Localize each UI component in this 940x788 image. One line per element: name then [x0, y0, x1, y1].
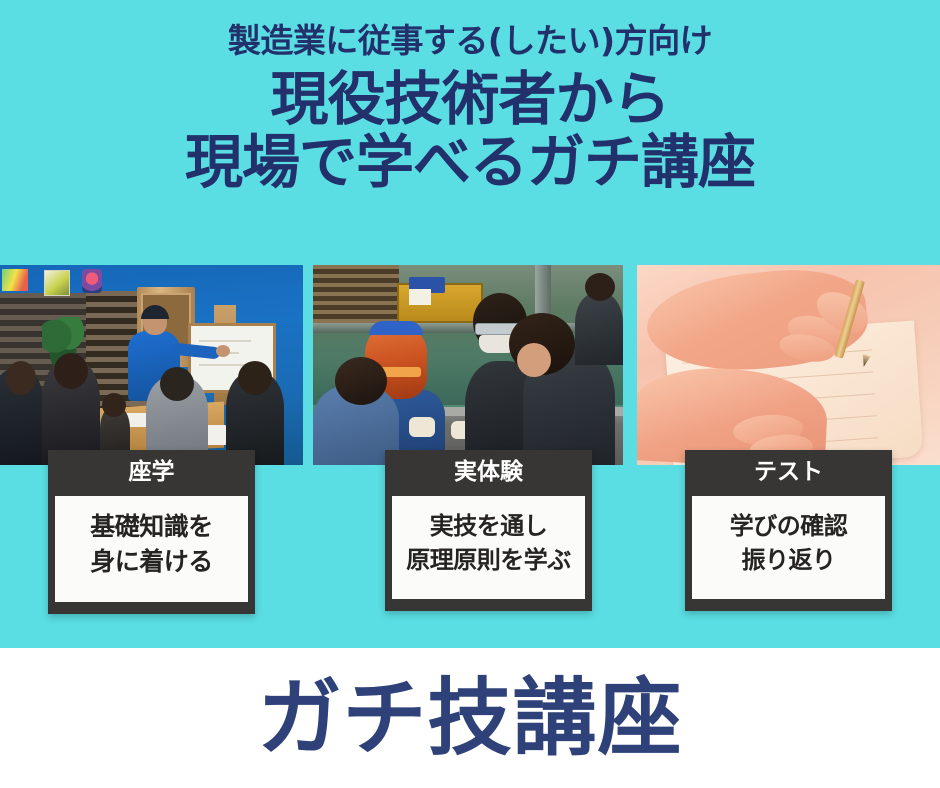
workshop-student-face: [517, 343, 551, 377]
workshop-student-head: [335, 357, 387, 405]
step-card-body-line: 身に着ける: [59, 544, 244, 580]
step-card-body-line: 振り返り: [696, 543, 881, 577]
step-card-body: 学びの確認 振り返り: [692, 496, 885, 599]
classroom-attendee-head: [6, 361, 36, 395]
classroom-attendee-head: [238, 361, 272, 395]
workshop-machine-label: [409, 289, 431, 305]
photo-row: [0, 265, 940, 465]
step-card-header: 座学: [55, 457, 248, 496]
classroom-instructor-hand: [216, 345, 230, 357]
workshop-helmet-headband: [369, 321, 423, 335]
step-card-zagaku[interactable]: 座学 基礎知識を 身に着ける: [48, 450, 255, 614]
poster-canvas: 製造業に従事する(したい)方向け 現役技術者から 現場で学べるガチ講座: [0, 0, 940, 788]
classroom-attendee-head: [54, 353, 88, 389]
step-card-body-line: 基礎知識を: [59, 509, 244, 545]
step-card-header: 実体験: [392, 457, 585, 496]
photo-workshop: [313, 265, 623, 465]
workshop-background-person: [575, 293, 623, 365]
photo-writing: [637, 265, 940, 465]
step-card-body-line: 実技を通し: [396, 509, 581, 543]
workshop-background-person-head: [585, 273, 615, 301]
step-card-body: 基礎知識を 身に着ける: [55, 496, 248, 602]
classroom-attendee-head: [102, 393, 126, 417]
step-card-test[interactable]: テスト 学びの確認 振り返り: [685, 450, 892, 611]
step-card-body-line: 学びの確認: [696, 509, 881, 543]
classroom-poster-left: [2, 269, 28, 291]
classroom-attendee-head: [160, 367, 194, 401]
workshop-glove: [409, 417, 435, 437]
step-card-body: 実技を通し 原理原則を学ぶ: [392, 496, 585, 599]
hero-subtitle: 製造業に従事する(したい)方向け: [0, 22, 940, 60]
step-card-body-line: 原理原則を学ぶ: [396, 543, 581, 577]
footer-logo-text: ガチ技講座: [257, 676, 682, 760]
hero-title-line-2: 現場で学べるガチ講座: [0, 130, 940, 195]
step-card-jittaiken[interactable]: 実体験 実技を通し 原理原則を学ぶ: [385, 450, 592, 611]
classroom-poster-mid: [44, 270, 70, 296]
workshop-wall-slats: [313, 265, 399, 327]
hero-heading-block: 製造業に従事する(したい)方向け 現役技術者から 現場で学べるガチ講座: [0, 0, 940, 195]
footer-band: ガチ技講座: [0, 648, 940, 788]
photo-classroom: [0, 265, 303, 465]
step-card-header: テスト: [692, 457, 885, 496]
hero-title-line-1: 現役技術者から: [0, 68, 940, 132]
classroom-decoration: [82, 269, 102, 293]
